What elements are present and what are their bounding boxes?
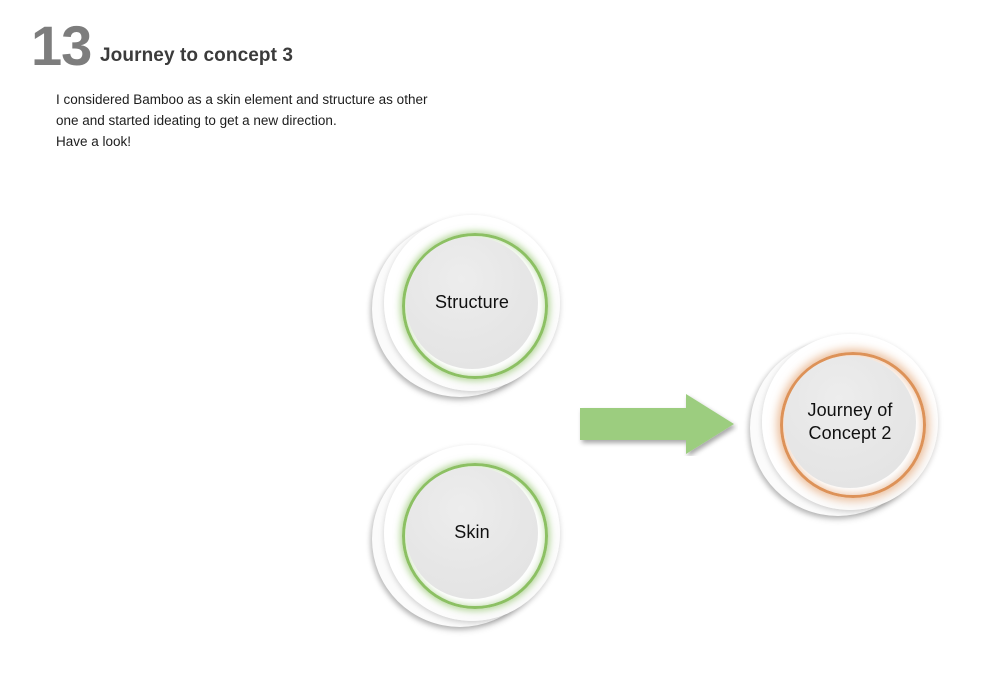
node-label-skin: Skin — [454, 521, 489, 544]
slide-description: I considered Bamboo as a skin element an… — [56, 90, 576, 153]
node-inner-disc: Structure — [406, 237, 538, 369]
slide-canvas: 13 Journey to concept 3 I considered Bam… — [0, 0, 1000, 692]
node-journey-of-concept-2[interactable]: Journey of Concept 2 — [762, 334, 938, 510]
description-line-1: I considered Bamboo as a skin element an… — [56, 90, 576, 111]
slide-number: 13 — [31, 18, 91, 74]
node-skin[interactable]: Skin — [384, 445, 560, 621]
node-label-line-2: Concept 2 — [809, 423, 892, 443]
node-structure[interactable]: Structure — [384, 215, 560, 391]
node-label-line-1: Journey of — [807, 400, 892, 420]
green-right-arrow-icon — [576, 392, 738, 456]
description-line-3: Have a look! — [56, 132, 576, 153]
page-title: Journey to concept 3 — [100, 45, 293, 68]
node-inner-disc: Skin — [406, 467, 538, 599]
node-label-journey-of-concept-2: Journey of Concept 2 — [807, 399, 892, 445]
description-line-2: one and started ideating to get a new di… — [56, 111, 576, 132]
node-inner-disc: Journey of Concept 2 — [784, 356, 916, 488]
node-label-structure: Structure — [435, 291, 509, 314]
